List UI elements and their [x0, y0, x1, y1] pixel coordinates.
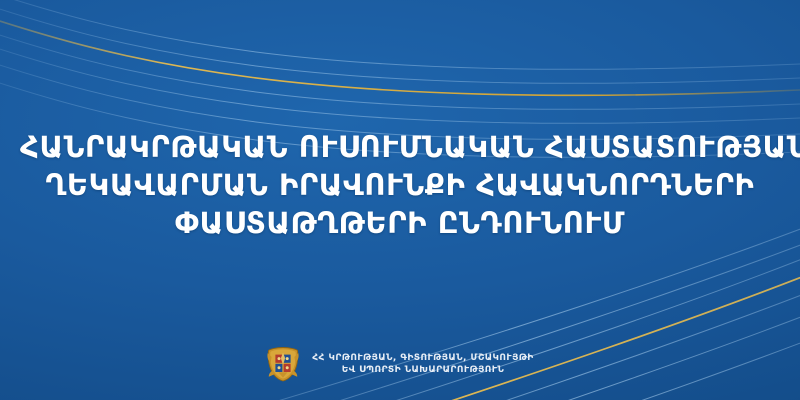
announcement-banner: ՀԱՆՐԱԿՐԹԱԿԱՆ ՈՒՍՈՒՄՆԱԿԱՆ ՀԱՍՏԱՏՈՒԹՅԱՆ ՂԵ… — [0, 0, 800, 400]
ministry-name: ՀՀ ԿՐԹՈՒԹՅԱՆ, ԳԻՏՈՒԹՅԱՆ, ՄՇԱԿՈՒՅԹԻ ԵՎ ՍՊ… — [312, 352, 534, 376]
title-line-3: ՓԱՍՏԱԹՂԹԵՐԻ ԸՆԴՈՒՆՈՒՄ — [20, 204, 780, 242]
banner-content: ՀԱՆՐԱԿՐԹԱԿԱՆ ՈՒՍՈՒՄՆԱԿԱՆ ՀԱՍՏԱՏՈՒԹՅԱՆ ՂԵ… — [0, 0, 800, 400]
ministry-footer: ՀՀ ԿՐԹՈՒԹՅԱՆ, ԳԻՏՈՒԹՅԱՆ, ՄՇԱԿՈՒՅԹԻ ԵՎ ՍՊ… — [0, 346, 800, 382]
title-line-1: ՀԱՆՐԱԿՐԹԱԿԱՆ ՈՒՍՈՒՄՆԱԿԱՆ ՀԱՍՏԱՏՈՒԹՅԱՆ — [20, 128, 780, 166]
ministry-line-2: ԵՎ ՍՊՈՐՏԻ ՆԱԽԱՐԱՐՈՒԹՅՈՒՆ — [342, 364, 505, 376]
title-line-2: ՂԵԿԱՎԱՐՄԱՆ ԻՐԱՎՈՒՆՔԻ ՀԱՎԱԿՆՈՐԴՆԵՐԻ — [20, 166, 780, 204]
ministry-line-1: ՀՀ ԿՐԹՈՒԹՅԱՆ, ԳԻՏՈՒԹՅԱՆ, ՄՇԱԿՈՒՅԹԻ — [312, 352, 534, 364]
armenia-coat-of-arms-icon — [266, 346, 300, 382]
page-title: ՀԱՆՐԱԿՐԹԱԿԱՆ ՈՒՍՈՒՄՆԱԿԱՆ ՀԱՍՏԱՏՈՒԹՅԱՆ ՂԵ… — [20, 128, 780, 242]
